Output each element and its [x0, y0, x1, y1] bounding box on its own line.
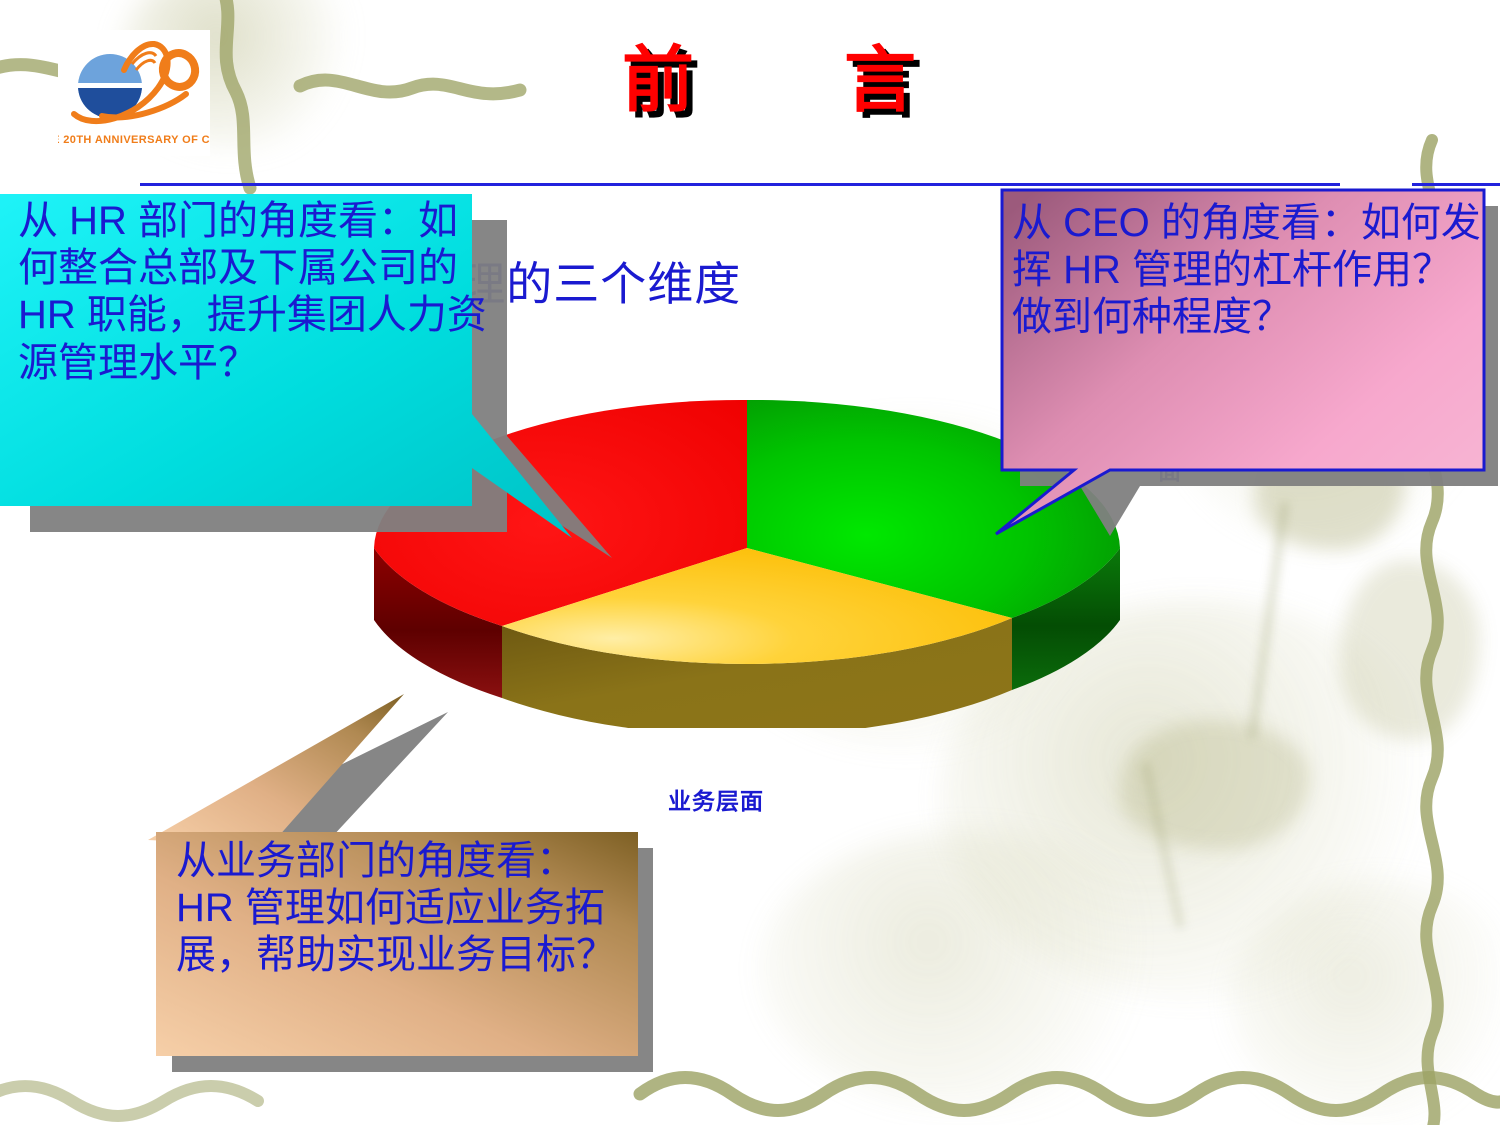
- ceo-callout-text: 从 CEO 的角度看：如何发挥 HR 管理的杠杆作用？做到何种程度？: [1012, 200, 1482, 342]
- business-department-callout[interactable]: 从业务部门的角度看：HR 管理如何适应业务拓展，帮助实现业务目标？: [148, 690, 678, 1090]
- logo-caption: THE 20TH ANNIVERSARY OF CIMC: [58, 134, 210, 146]
- vine-decoration-bottom: [640, 1060, 1500, 1120]
- hr-callout-text: 从 HR 部门的角度看：如何整合总部及下属公司的 HR 职能，提升集团人力资源管…: [18, 198, 488, 387]
- logo: THE 20TH ANNIVERSARY OF CIMC: [58, 30, 210, 156]
- business-callout-text: 从业务部门的角度看：HR 管理如何适应业务拓展，帮助实现业务目标？: [176, 838, 626, 980]
- cimc-anniversary-logo-icon: THE 20TH ANNIVERSARY OF CIMC: [58, 30, 210, 156]
- hr-department-callout[interactable]: 从 HR 部门的角度看：如何整合总部及下属公司的 HR 职能，提升集团人力资源管…: [0, 186, 614, 586]
- pie-label-business: 业务层面: [668, 782, 764, 816]
- ceo-callout[interactable]: 从 CEO 的角度看：如何发挥 HR 管理的杠杆作用？做到何种程度？: [990, 186, 1500, 546]
- page-title: 前 言: [560, 42, 980, 121]
- slide-canvas: THE 20TH ANNIVERSARY OF CIMC 前 言 HR 管理的三…: [0, 0, 1500, 1125]
